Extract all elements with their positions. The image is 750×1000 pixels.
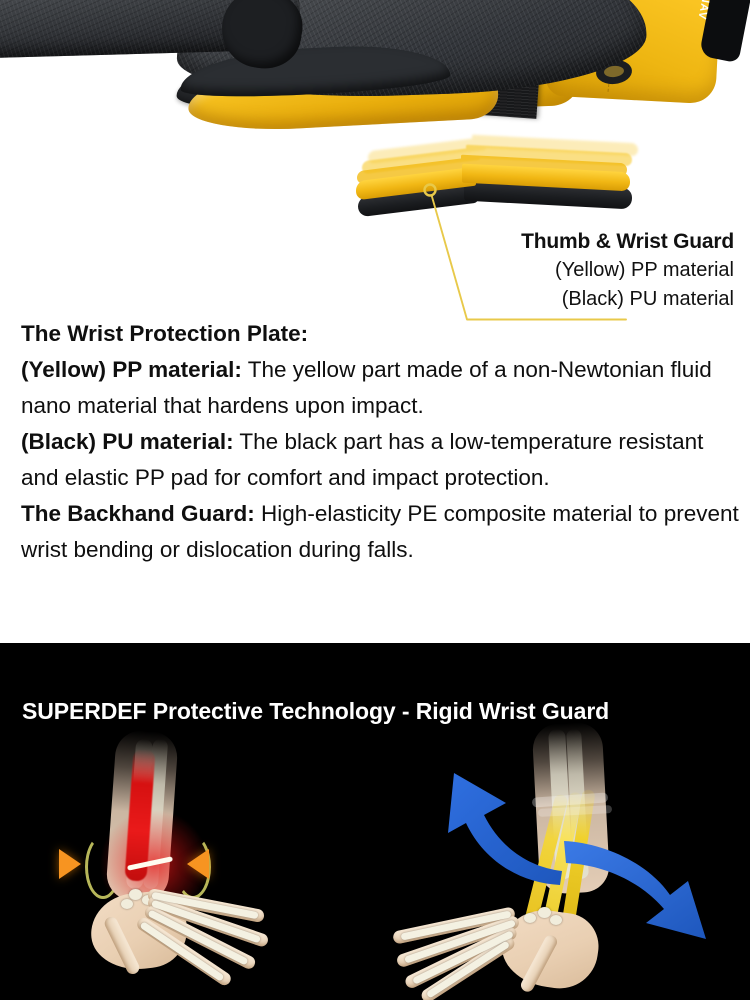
product-photo: NAV	[0, 0, 750, 230]
impact-arc-left	[85, 835, 121, 899]
copy-heading-backhand-guard: The Backhand Guard:	[21, 501, 255, 526]
bottom-black-panel: SUPERDEF Protective Technology - Rigid W…	[0, 643, 750, 1000]
right-carpal-1	[538, 907, 551, 918]
arrow-left-shape	[448, 773, 562, 885]
right-carpal-2	[524, 913, 536, 923]
copy-paragraph-yellow-pp: (Yellow) PP material: The yellow part ma…	[21, 352, 739, 424]
exploded-guard-plate	[352, 138, 652, 222]
right-carpal-3	[550, 915, 562, 925]
callout-line-black: (Black) PU material	[314, 285, 734, 314]
left-carpal-1	[129, 889, 142, 900]
callout-title: Thumb & Wrist Guard	[314, 228, 734, 256]
copy-heading-wrist-plate: The Wrist Protection Plate:	[21, 321, 308, 346]
body-copy: The Wrist Protection Plate: (Yellow) PP …	[21, 316, 739, 568]
copy-paragraph-backhand-guard: The Backhand Guard: High-elasticity PE c…	[21, 496, 739, 568]
copy-heading-yellow-pp: (Yellow) PP material:	[21, 357, 242, 382]
compression-arrow-right	[187, 849, 209, 879]
callout-line-yellow: (Yellow) PP material	[314, 256, 734, 285]
top-white-panel: NAV	[0, 0, 750, 643]
callout-text-block: Thumb & Wrist Guard (Yellow) PP material…	[314, 228, 734, 314]
copy-heading-black-pu: (Black) PU material:	[21, 429, 234, 454]
product-detail-page: NAV	[0, 0, 750, 1000]
protected-wrist-figure	[420, 743, 750, 1000]
compression-arrow-left	[59, 849, 81, 879]
left-carpal-3	[121, 899, 133, 909]
unprotected-wrist-figure	[55, 743, 395, 1000]
copy-paragraph-wrist-plate: The Wrist Protection Plate:	[21, 316, 739, 352]
guard-plate-pp-layer	[356, 168, 628, 194]
copy-paragraph-black-pu: (Black) PU material: The black part has …	[21, 424, 739, 496]
force-dispersion-arrow-left	[410, 757, 580, 897]
technology-title: SUPERDEF Protective Technology - Rigid W…	[22, 698, 734, 725]
